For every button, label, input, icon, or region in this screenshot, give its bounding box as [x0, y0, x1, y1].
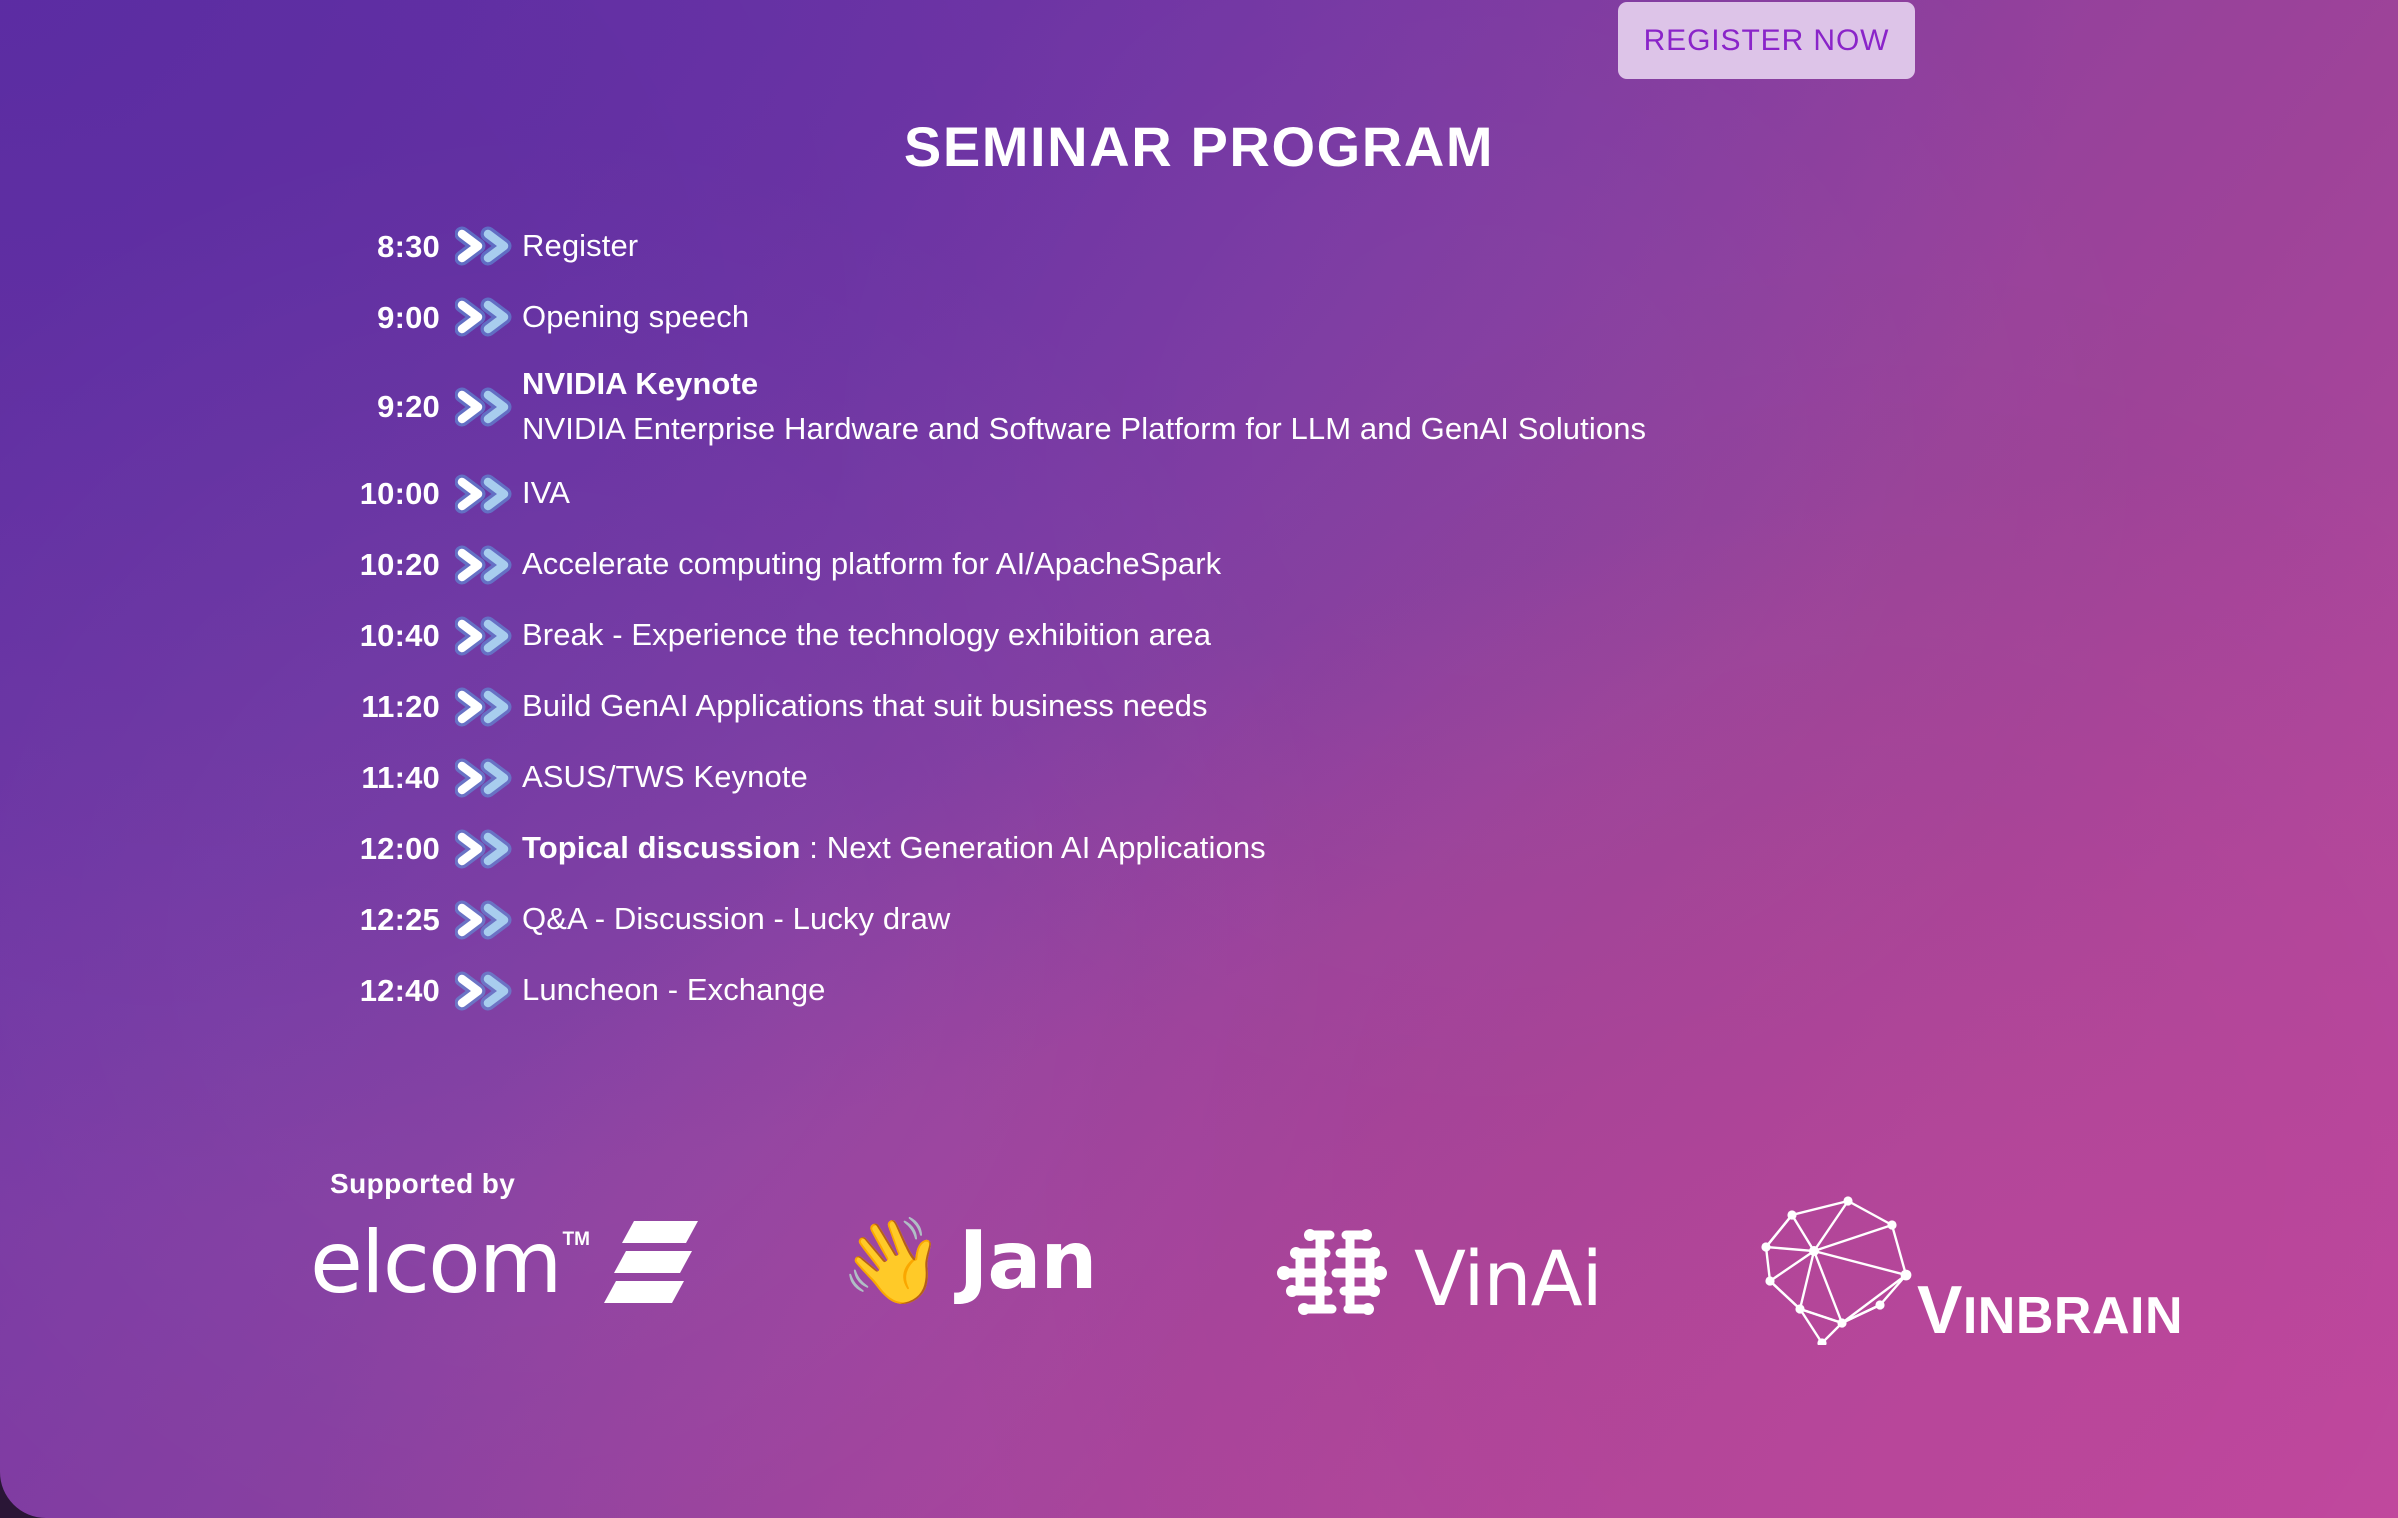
agenda-description: Opening speech: [518, 297, 749, 338]
agenda-description: Luncheon - Exchange: [518, 970, 826, 1011]
double-chevron-icon: [440, 900, 518, 940]
agenda-time: 11:40: [322, 762, 440, 793]
supported-by-label: Supported by: [330, 1168, 515, 1200]
agenda-row: 11:20 Build GenAI Applications that suit…: [322, 683, 2122, 731]
agenda-time: 10:00: [322, 478, 440, 509]
logo-vinbrain-text: VINBRAIN: [1917, 1276, 2183, 1344]
agenda-time: 10:40: [322, 620, 440, 651]
agenda-row: 11:40 ASUS/TWS Keynote: [322, 754, 2122, 802]
agenda-description: Accelerate computing platform for AI/Apa…: [518, 544, 1221, 585]
agenda-row: 9:00 Opening speech: [322, 293, 2122, 341]
agenda-description: Register: [518, 226, 638, 267]
double-chevron-icon: [440, 971, 518, 1011]
agenda-description: IVA: [518, 473, 570, 514]
agenda-row: 8:30 Register: [322, 222, 2122, 270]
double-chevron-icon: [440, 687, 518, 727]
double-chevron-icon: [440, 297, 518, 337]
agenda-description: NVIDIA KeynoteNVIDIA Enterprise Hardware…: [518, 364, 1646, 450]
logo-elcom-text: elcom: [310, 1220, 560, 1306]
double-chevron-icon: [440, 545, 518, 585]
agenda-row: 10:40 Break - Experience the technology …: [322, 612, 2122, 660]
logo-elcom: elcom TM: [310, 1217, 700, 1308]
agenda-row: 12:25 Q&A - Discussion - Lucky draw: [322, 896, 2122, 944]
agenda-row: 10:20 Accelerate computing platform for …: [322, 541, 2122, 589]
elcom-e-mark-icon: [600, 1217, 700, 1308]
agenda-time: 8:30: [322, 231, 440, 262]
seminar-program-slide: REGISTER NOW SEMINAR PROGRAM 8:30 Regist…: [0, 0, 2398, 1518]
agenda-title: Topical discussion: [522, 830, 801, 865]
logo-vinai-text: VinAi: [1414, 1241, 1602, 1317]
logo-vinbrain-initial: V: [1917, 1272, 1963, 1348]
agenda-time: 9:20: [322, 391, 440, 422]
double-chevron-icon: [440, 226, 518, 266]
agenda-subtitle: : Next Generation AI Applications: [801, 830, 1266, 865]
page-title: SEMINAR PROGRAM: [0, 114, 2398, 179]
agenda-description: ASUS/TWS Keynote: [518, 757, 808, 798]
agenda-list: 8:30 Register9:00 Opening speech9:20 NVI…: [322, 222, 2122, 1038]
logo-jan-text: Jan: [959, 1221, 1097, 1301]
agenda-description: Q&A - Discussion - Lucky draw: [518, 899, 950, 940]
waving-hand-icon: 👋: [840, 1219, 945, 1303]
agenda-row: 9:20 NVIDIA KeynoteNVIDIA Enterprise Har…: [322, 364, 2122, 450]
agenda-row: 12:00 Topical discussion : Next Generati…: [322, 825, 2122, 873]
sponsor-logos: elcom TM 👋 Jan: [310, 1215, 2110, 1345]
agenda-description: Break - Experience the technology exhibi…: [518, 615, 1211, 656]
agenda-row: 12:40 Luncheon - Exchange: [322, 967, 2122, 1015]
agenda-time: 11:20: [322, 691, 440, 722]
agenda-description: Build GenAI Applications that suit busin…: [518, 686, 1208, 727]
agenda-time: 12:25: [322, 904, 440, 935]
agenda-time: 12:40: [322, 975, 440, 1006]
double-chevron-icon: [440, 474, 518, 514]
register-now-button[interactable]: REGISTER NOW: [1618, 2, 1915, 79]
agenda-time: 9:00: [322, 302, 440, 333]
vinai-circuit-icon: [1270, 1221, 1398, 1336]
double-chevron-icon: [440, 616, 518, 656]
agenda-time: 12:00: [322, 833, 440, 864]
logo-vinai: VinAi: [1270, 1221, 1602, 1336]
agenda-row: 10:00 IVA: [322, 470, 2122, 518]
logo-jan: 👋 Jan: [840, 1219, 1096, 1303]
logo-vinbrain: VINBRAIN: [1730, 1185, 2183, 1350]
agenda-description: Topical discussion : Next Generation AI …: [518, 828, 1266, 869]
double-chevron-icon: [440, 829, 518, 869]
double-chevron-icon: [440, 387, 518, 427]
agenda-subtitle: NVIDIA Enterprise Hardware and Software …: [522, 409, 1646, 450]
logo-vinbrain-rest: INBRAIN: [1963, 1287, 2183, 1345]
double-chevron-icon: [440, 758, 518, 798]
trademark-icon: TM: [562, 1229, 589, 1251]
agenda-time: 10:20: [322, 549, 440, 580]
brain-network-icon: [1730, 1185, 1945, 1350]
agenda-title: NVIDIA Keynote: [522, 364, 1646, 405]
